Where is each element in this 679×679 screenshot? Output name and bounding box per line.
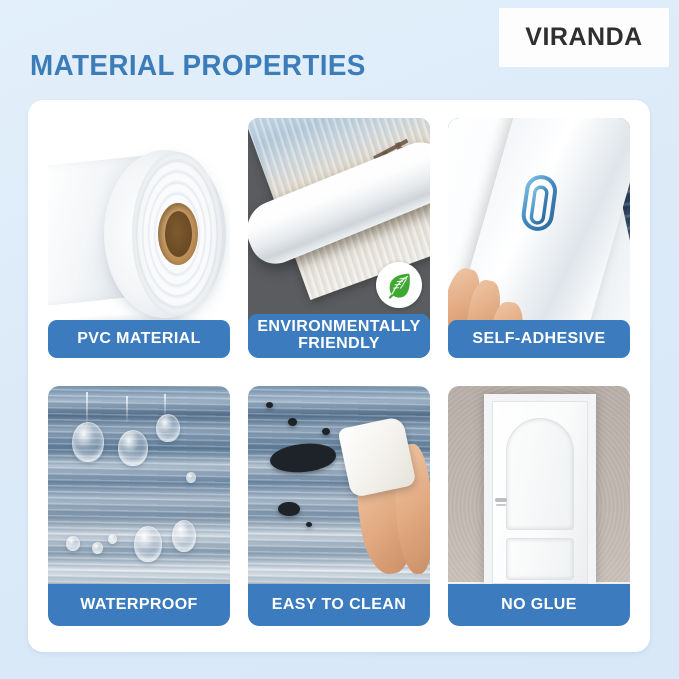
door-handle xyxy=(495,498,507,502)
dirt-speck xyxy=(266,402,273,408)
leaf-icon xyxy=(376,262,422,308)
feature-label-environmentally-friendly: ENVIRONMENTALLY FRIENDLY xyxy=(248,314,430,358)
feature-card-pvc-material: PVC MATERIAL xyxy=(48,118,230,358)
feature-grid: PVC MATERIAL xyxy=(48,118,630,628)
water-droplet xyxy=(72,422,104,462)
door-panel-upper xyxy=(506,418,574,530)
water-droplet xyxy=(156,414,180,442)
feature-label-pvc-material: PVC MATERIAL xyxy=(48,320,230,358)
water-droplet xyxy=(66,536,80,551)
brand-name: VIRANDA xyxy=(525,23,642,52)
feature-card-environmentally-friendly: ENVIRONMENTALLY FRIENDLY xyxy=(248,118,430,358)
feature-image-no-glue: NO GLUE xyxy=(448,386,630,626)
dirt-speck xyxy=(322,428,330,435)
water-streak xyxy=(164,394,166,416)
feature-image-easy-to-clean: EASY TO CLEAN xyxy=(248,386,430,626)
dirt-speck xyxy=(306,522,312,527)
page-title: MATERIAL PROPERTIES xyxy=(30,50,366,83)
feature-label-line2: FRIENDLY xyxy=(257,336,420,353)
feature-label-no-glue: NO GLUE xyxy=(448,584,630,626)
feature-card-waterproof: WATERPROOF xyxy=(48,386,230,626)
water-droplet xyxy=(118,430,148,466)
water-droplet xyxy=(134,526,162,562)
cleaning-cloth xyxy=(337,416,416,498)
feature-label-line1: ENVIRONMENTALLY xyxy=(257,319,420,336)
feature-label-easy-to-clean: EASY TO CLEAN xyxy=(248,584,430,626)
infographic-page: VIRANDA MATERIAL PROPERTIES PVC MATERIAL xyxy=(0,0,679,679)
brand-logo-badge: VIRANDA xyxy=(500,9,668,66)
feature-image-waterproof: WATERPROOF xyxy=(48,386,230,626)
feature-card-self-adhesive: SELF-ADHESIVE xyxy=(448,118,630,358)
roll-core-hole xyxy=(165,211,192,257)
door-panel-lower xyxy=(506,538,574,580)
water-streak xyxy=(126,396,128,422)
dirt-stain xyxy=(278,502,300,516)
water-droplet xyxy=(172,520,196,552)
feature-card-easy-to-clean: EASY TO CLEAN xyxy=(248,386,430,626)
water-streak xyxy=(86,392,88,426)
dirt-speck xyxy=(288,418,297,426)
water-droplet xyxy=(108,534,117,544)
feature-label-waterproof: WATERPROOF xyxy=(48,584,230,626)
feature-label-self-adhesive: SELF-ADHESIVE xyxy=(448,320,630,358)
feature-card-no-glue: NO GLUE xyxy=(448,386,630,626)
water-droplet xyxy=(186,472,196,483)
water-droplet xyxy=(92,542,103,554)
